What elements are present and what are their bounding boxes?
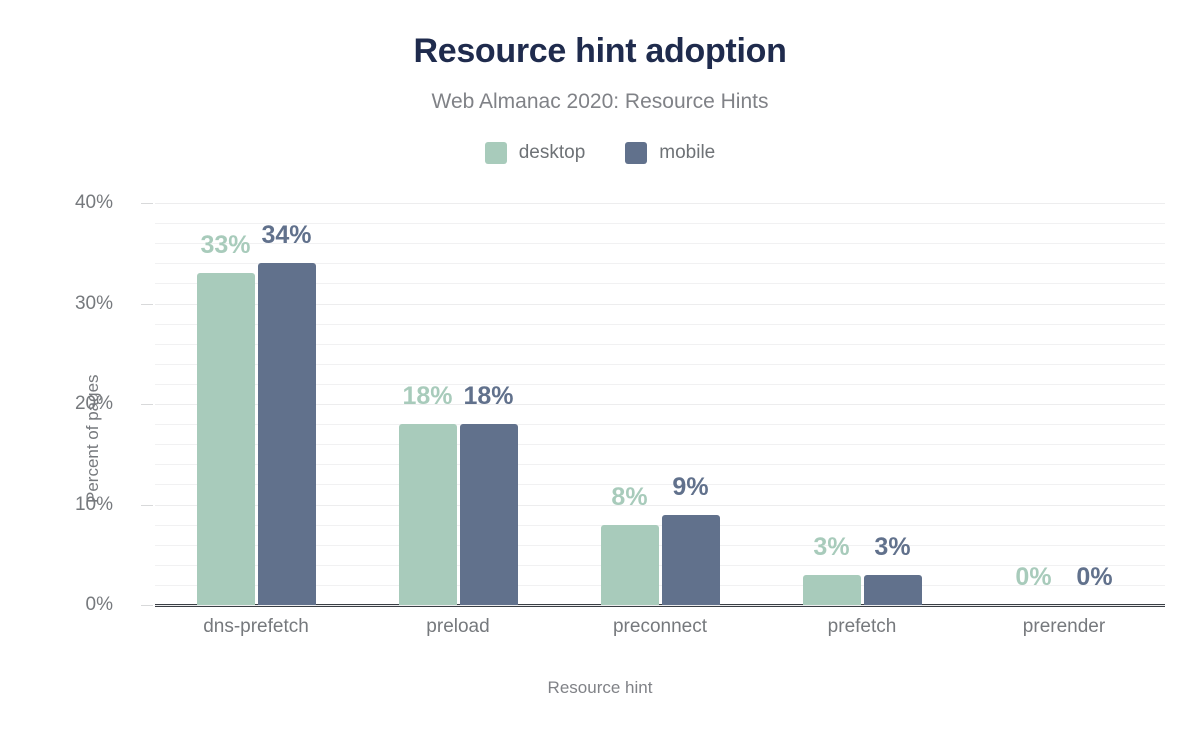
bar-value-label-desktop-prefetch: 3% [813,533,849,562]
bar-value-label-mobile-prefetch: 3% [874,533,910,562]
x-axis-tick-label-prerender: prerender [1023,616,1105,638]
gridline [155,203,1165,204]
bar-value-label-desktop-preload: 18% [402,382,452,411]
bar-desktop-preload[interactable] [399,424,457,605]
y-axis-tick-mark [141,304,153,305]
bar-desktop-preconnect[interactable] [601,525,659,605]
gridline [155,605,1165,606]
x-axis-tick-label-prefetch: prefetch [828,616,897,638]
plot-area: Percent of pages 0%10%20%30%40%33%34%18%… [155,203,1165,605]
bar-value-label-desktop-prerender: 0% [1015,563,1051,592]
y-axis-tick-label: 0% [0,594,113,616]
bar-mobile-prefetch[interactable] [864,575,922,605]
x-axis-tick-label-preload: preload [426,616,489,638]
bar-value-label-mobile-dns-prefetch: 34% [261,221,311,250]
bar-mobile-preload[interactable] [460,424,518,605]
bar-value-label-mobile-preconnect: 9% [672,473,708,502]
bar-mobile-dns-prefetch[interactable] [258,263,316,605]
bar-value-label-mobile-prerender: 0% [1076,563,1112,592]
bar-value-label-desktop-dns-prefetch: 33% [200,231,250,260]
y-axis-tick-label: 30% [0,293,113,315]
legend-item-mobile[interactable]: mobile [625,142,715,164]
bar-desktop-prefetch[interactable] [803,575,861,605]
chart-title: Resource hint adoption [0,32,1200,71]
y-axis-tick-mark [141,505,153,506]
x-axis-title: Resource hint [0,678,1200,698]
y-axis-tick-mark [141,605,153,606]
bar-mobile-preconnect[interactable] [662,515,720,605]
legend-label-desktop: desktop [519,142,586,164]
bar-desktop-dns-prefetch[interactable] [197,273,255,605]
bar-value-label-desktop-preconnect: 8% [611,483,647,512]
y-axis-tick-label: 20% [0,393,113,415]
x-axis-tick-label-dns-prefetch: dns-prefetch [203,616,309,638]
legend-swatch-mobile [625,142,647,164]
chart-subtitle: Web Almanac 2020: Resource Hints [0,90,1200,114]
legend-swatch-desktop [485,142,507,164]
y-axis-tick-label: 10% [0,494,113,516]
bar-value-label-mobile-preload: 18% [463,382,513,411]
x-axis-tick-label-preconnect: preconnect [613,616,707,638]
legend-label-mobile: mobile [659,142,715,164]
y-axis-tick-label: 40% [0,192,113,214]
bar-chart: Resource hint adoption Web Almanac 2020:… [0,0,1200,742]
y-axis-tick-mark [141,404,153,405]
y-axis-tick-mark [141,203,153,204]
legend-item-desktop[interactable]: desktop [485,142,586,164]
chart-legend: desktopmobile [0,142,1200,164]
